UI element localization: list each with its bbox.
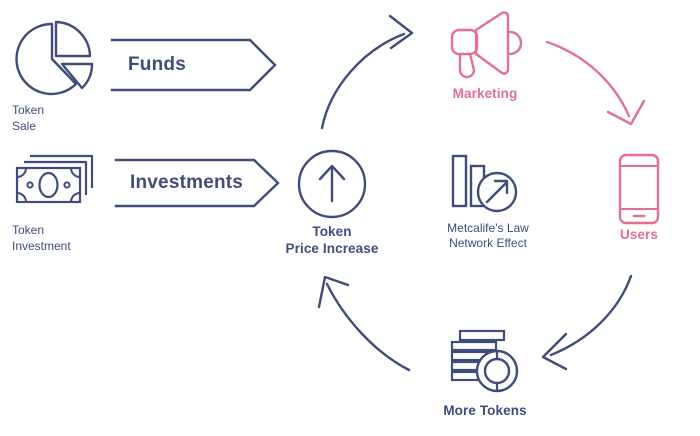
arrow-users-to-tokens (543, 276, 631, 369)
bar-chart-growth-icon (448, 150, 524, 216)
arrow-tokens-to-price (319, 277, 409, 370)
coin-stack-icon (446, 328, 524, 396)
token-price-increase-label: Token Price Increase (256, 224, 408, 258)
arrow-price-to-marketing (322, 16, 412, 128)
token-investment-caption: Token Investment (12, 222, 112, 254)
diagram-canvas: Token Sale Funds Token Investment Invest… (0, 0, 700, 436)
token-sale-caption: Token Sale (12, 102, 102, 134)
pie-chart-icon (12, 16, 98, 102)
smartphone-icon (612, 152, 666, 226)
funds-banner-label: Funds (128, 54, 186, 76)
network-effect-label: Metcalife's Law Network Effect (413, 221, 563, 251)
more-tokens-label: More Tokens (410, 403, 560, 420)
investments-banner-label: Investments (130, 172, 243, 194)
banknotes-icon (12, 150, 98, 212)
circle-up-arrow-icon (296, 148, 368, 220)
marketing-label: Marketing (415, 86, 555, 103)
arrow-marketing-to-users (547, 42, 644, 124)
megaphone-icon (446, 8, 524, 82)
users-label: Users (589, 227, 689, 244)
